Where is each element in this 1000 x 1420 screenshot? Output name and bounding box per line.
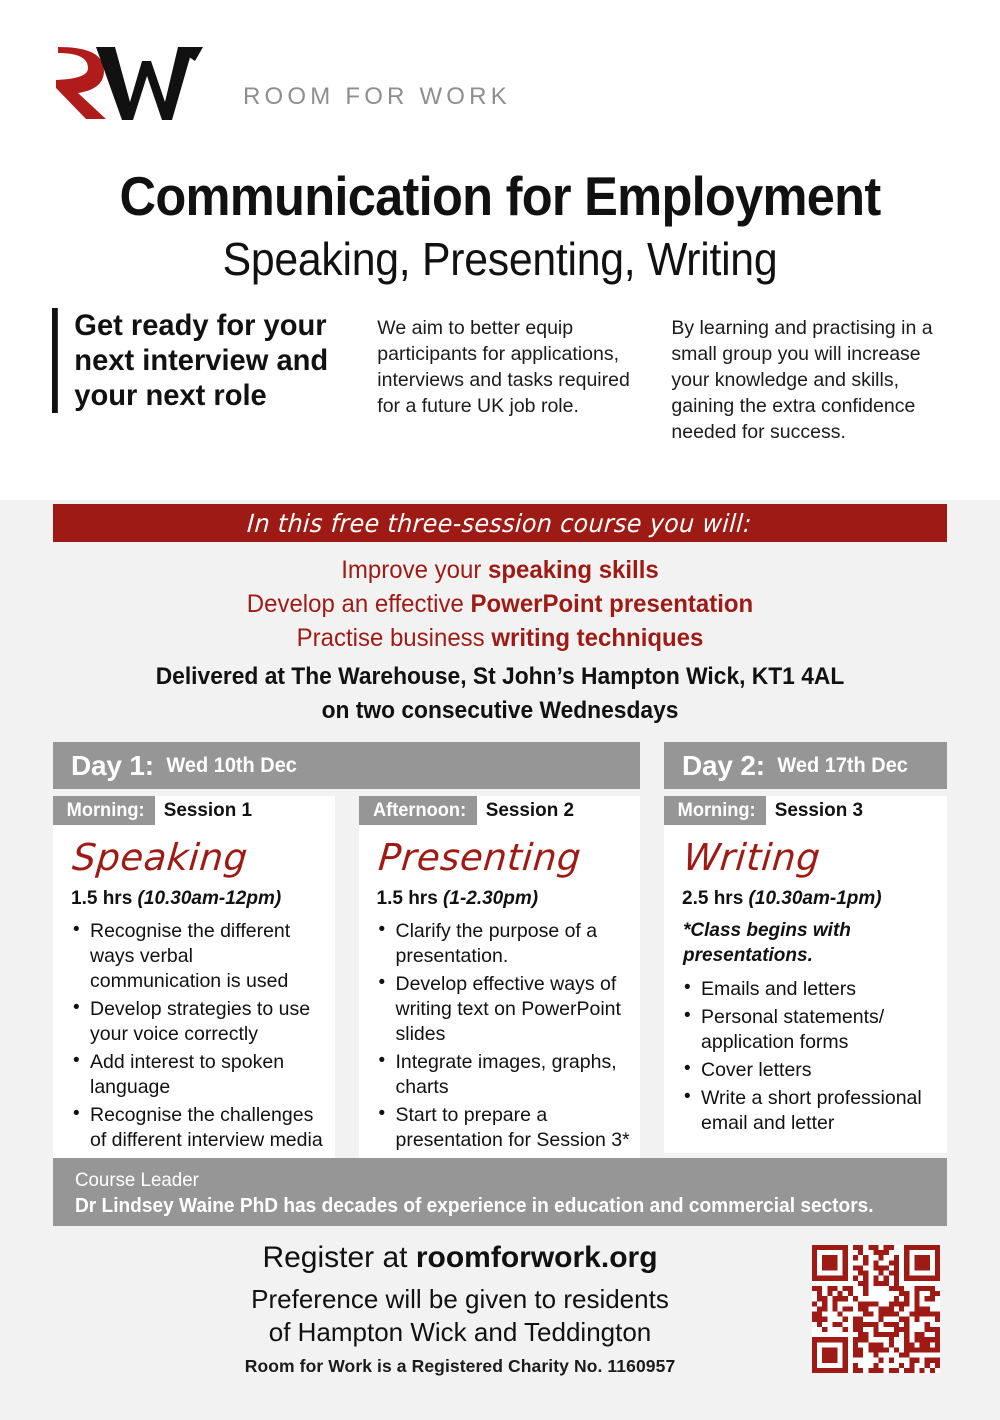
schedule-grid: Day 1: Wed 10th Dec Morning: Session 1 S… [53, 742, 947, 1170]
day-label: Day 2: [682, 750, 765, 782]
promises-list: Improve your speaking skills Develop an … [0, 553, 1000, 655]
session-duration-hours: 1.5 hrs [377, 888, 444, 909]
day-header-1: Day 1: Wed 10th Dec [53, 742, 640, 789]
day-label: Day 1: [71, 750, 154, 782]
poster-canvas: ROOM FOR WORK Communication for Employme… [0, 0, 1000, 1420]
session-period-chip: Afternoon: [359, 796, 477, 825]
course-leader-label: Course Leader [75, 1168, 912, 1193]
session-duration: 2.5 hrs (10.30am-1pm) [682, 888, 947, 910]
page-subtitle: Speaking, Presenting, Writing [35, 232, 965, 286]
list-item: Recognise the different ways verbal comm… [73, 919, 325, 994]
session-period-label: Morning: [678, 800, 756, 822]
intro-paragraph-2: By learning and practising in a small gr… [671, 308, 952, 446]
register-block: Register at roomforwork.org Preference w… [150, 1240, 770, 1350]
venue-line-2: on two consecutive Wednesdays [25, 694, 975, 728]
page-title: Communication for Employment [40, 168, 960, 224]
session-card-1: Morning: Session 1 Speaking 1.5 hrs (10.… [53, 796, 335, 1170]
register-note: Preference will be given to residents of… [150, 1283, 770, 1350]
session-period-chip: Morning: [53, 796, 155, 825]
promise-plain: Develop an effective [247, 590, 471, 618]
qr-code[interactable] [812, 1245, 940, 1373]
list-item: Start to prepare a presentation for Sess… [379, 1103, 631, 1153]
course-banner-text: In this free three-session course you wi… [247, 509, 754, 538]
day-1-columns: Morning: Session 1 Speaking 1.5 hrs (10.… [53, 796, 640, 1170]
qr-code-icon [812, 1245, 940, 1373]
day-2-columns: Morning: Session 3 Writing 2.5 hrs (10.3… [664, 796, 947, 1153]
register-cta-prefix: Register at [262, 1241, 415, 1274]
session-period-chip: Morning: [664, 796, 766, 825]
session-note: *Class begins with presentations. [682, 919, 947, 968]
day-panel-2: Day 2: Wed 17th Dec Morning: Session 3 W… [664, 742, 947, 1170]
day-header-2: Day 2: Wed 17th Dec [664, 742, 947, 789]
session-1-heading: Morning: Session 1 [53, 796, 335, 825]
list-item: Personal statements/ application forms [684, 1005, 937, 1055]
session-period-label: Afternoon: [372, 800, 465, 822]
course-leader-bio: Dr Lindsey Waine PhD has decades of expe… [75, 1193, 908, 1219]
venue-line-1: Delivered at The Warehouse, St John’s Ha… [25, 660, 975, 694]
session-bullets: Recognise the different ways verbal comm… [53, 919, 335, 1153]
register-note-line-2: of Hampton Wick and Teddington [150, 1316, 770, 1349]
session-duration-time: (1-2.30pm) [443, 888, 538, 909]
register-cta: Register at roomforwork.org [150, 1240, 770, 1276]
rw-monogram-icon [52, 44, 237, 122]
session-duration-time: (10.30am-1pm) [749, 888, 882, 909]
day-date: Wed 17th Dec [777, 754, 907, 778]
register-url[interactable]: roomforwork.org [416, 1241, 658, 1274]
promise-item: Improve your speaking skills [20, 553, 980, 587]
session-period-label: Morning: [67, 800, 145, 822]
promise-plain: Practise business [297, 624, 492, 652]
session-3-heading: Morning: Session 3 [664, 796, 947, 825]
session-duration-hours: 1.5 hrs [71, 888, 138, 909]
list-item: Cover letters [684, 1058, 937, 1083]
register-note-line-1: Preference will be given to residents [150, 1283, 770, 1316]
brand-wordmark: ROOM FOR WORK [243, 83, 511, 122]
list-item: Integrate images, graphs, charts [379, 1050, 631, 1100]
session-2-heading: Afternoon: Session 2 [359, 796, 641, 825]
session-title: Writing [682, 839, 950, 876]
session-bullets: Clarify the purpose of a presentation. D… [359, 919, 641, 1153]
session-bullets: Emails and letters Personal statements/ … [664, 977, 947, 1136]
course-leader-bar: Course Leader Dr Lindsey Waine PhD has d… [53, 1158, 947, 1226]
session-card-3: Morning: Session 3 Writing 2.5 hrs (10.3… [664, 796, 947, 1153]
session-card-2: Afternoon: Session 2 Presenting 1.5 hrs … [359, 796, 641, 1170]
promise-plain: Improve your [341, 556, 488, 584]
day-panel-1: Day 1: Wed 10th Dec Morning: Session 1 S… [53, 742, 640, 1170]
list-item: Write a short professional email and let… [684, 1086, 937, 1136]
promise-bold: speaking skills [488, 556, 659, 584]
promise-bold: PowerPoint presentation [470, 590, 753, 618]
session-duration-time: (10.30am-12pm) [138, 888, 282, 909]
venue-info: Delivered at The Warehouse, St John’s Ha… [25, 660, 975, 728]
promise-item: Practise business writing techniques [20, 621, 980, 655]
promise-item: Develop an effective PowerPoint presenta… [20, 587, 980, 621]
list-item: Emails and letters [684, 977, 937, 1002]
list-item: Develop strategies to use your voice cor… [73, 997, 325, 1047]
list-item: Recognise the challenges of different in… [73, 1103, 325, 1153]
intro-lead: Get ready for your next interview and yo… [52, 308, 356, 413]
session-title: Presenting [377, 839, 644, 876]
intro-paragraph-1: We aim to better equip participants for … [377, 308, 643, 420]
session-number: Session 3 [766, 796, 863, 825]
session-duration-hours: 2.5 hrs [682, 888, 749, 909]
intro-section: Get ready for your next interview and yo… [52, 308, 952, 446]
brand-logo: ROOM FOR WORK [52, 44, 511, 122]
list-item: Develop effective ways of writing text o… [379, 972, 631, 1047]
course-banner: In this free three-session course you wi… [53, 504, 947, 542]
session-number: Session 1 [155, 796, 252, 825]
list-item: Add interest to spoken language [73, 1050, 325, 1100]
session-number: Session 2 [477, 796, 574, 825]
promise-bold: writing techniques [491, 624, 703, 652]
session-duration: 1.5 hrs (1-2.30pm) [377, 888, 641, 910]
list-item: Clarify the purpose of a presentation. [379, 919, 631, 969]
session-duration: 1.5 hrs (10.30am-12pm) [71, 888, 335, 910]
day-date: Wed 10th Dec [166, 754, 296, 778]
charity-notice: Room for Work is a Registered Charity No… [150, 1356, 770, 1377]
session-title: Speaking [71, 839, 338, 876]
